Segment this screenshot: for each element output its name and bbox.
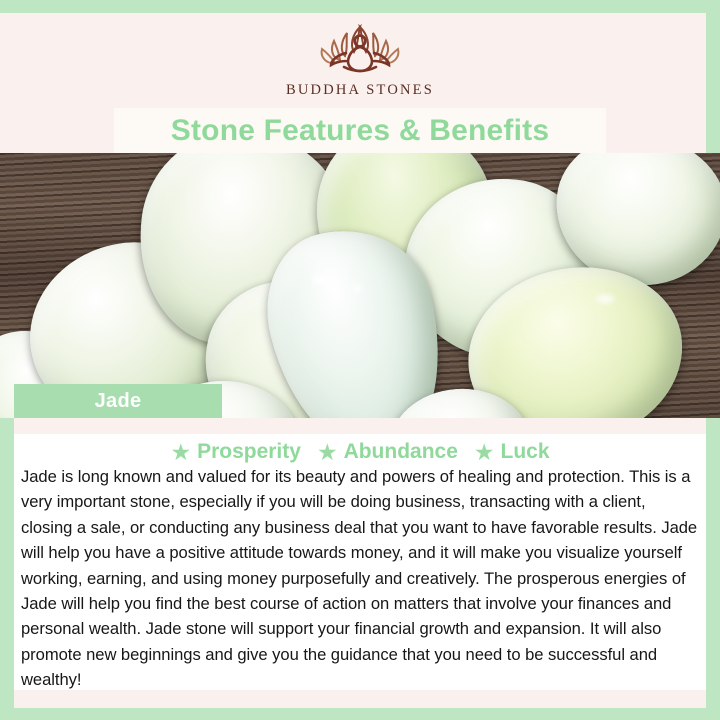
stone-name: Jade <box>95 390 142 413</box>
benefit-label: Prosperity <box>197 440 301 464</box>
description-panel: ★ Prosperity ★ Abundance ★ Luck Jade is … <box>14 418 706 708</box>
star-icon: ★ <box>474 441 495 464</box>
jade-stones-photo <box>0 153 720 418</box>
stone-highlight <box>352 285 363 292</box>
benefit-label: Abundance <box>344 440 458 464</box>
star-icon: ★ <box>317 441 338 464</box>
star-icon: ★ <box>170 441 191 464</box>
benefit-item: ★ Luck <box>474 440 550 464</box>
stone-highlight <box>312 275 328 284</box>
decorative-band-left <box>0 418 14 720</box>
title-banner: Stone Features & Benefits <box>114 108 606 153</box>
benefit-item: ★ Abundance <box>317 440 458 464</box>
panel-bottom-strip <box>14 690 706 708</box>
brand-name: BUDDHA STONES <box>286 82 434 99</box>
decorative-band-bottom <box>0 708 720 720</box>
decorative-band-top <box>0 0 720 13</box>
stone-info-poster: BUDDHA STONES Stone Features & Benefits … <box>0 0 720 720</box>
page-title: Stone Features & Benefits <box>171 114 549 148</box>
benefit-item: ★ Prosperity <box>170 440 301 464</box>
benefit-label: Luck <box>501 440 550 464</box>
panel-top-strip <box>14 418 706 434</box>
description-text: Jade is long known and valued for its be… <box>21 464 701 693</box>
lotus-meditation-figure-icon <box>300 21 420 79</box>
brand-logo-block: BUDDHA STONES <box>0 13 720 108</box>
stone-name-badge: Jade <box>14 384 222 418</box>
stone-highlight <box>596 295 614 303</box>
